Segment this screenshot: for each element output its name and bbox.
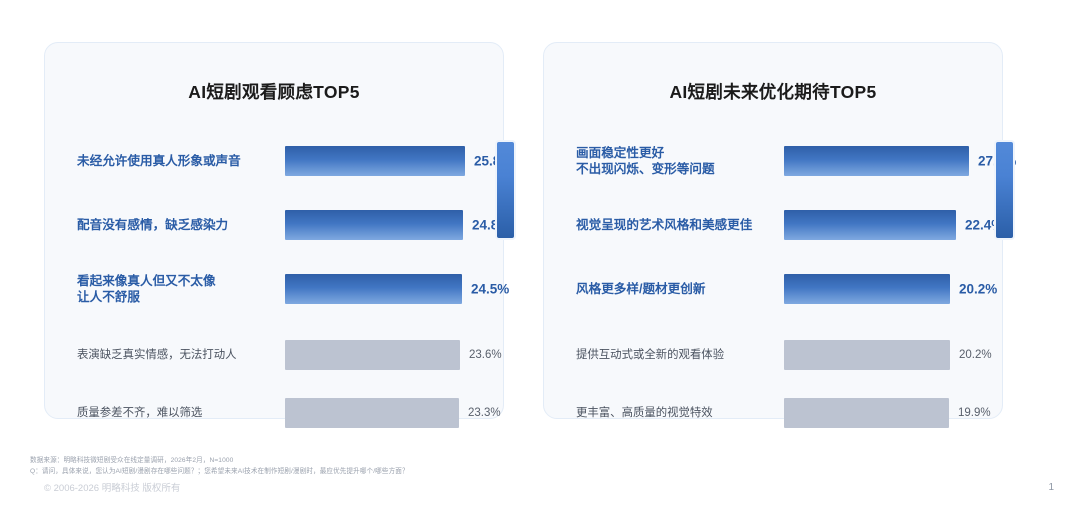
panel-title-right: AI短剧未来优化期待TOP5 bbox=[544, 79, 1002, 104]
bar-track: 24.5% bbox=[285, 274, 470, 304]
bar-list-left: 未经允许使用真人形象或声音 25.8% 配音没有感情，缺乏感染力 24.8% 看… bbox=[45, 125, 503, 404]
bar-value-label: 19.9% bbox=[958, 407, 991, 419]
bar-track: 19.9% bbox=[784, 398, 969, 428]
panel-viewing-concerns: AI短剧观看顾虑TOP5 未经允许使用真人形象或声音 25.8% 配音没有感情，… bbox=[44, 42, 504, 419]
bar-value-label: 23.6% bbox=[469, 349, 502, 361]
bar-row-label: 风格更多样/题材更创新 bbox=[576, 281, 780, 297]
bar-fill bbox=[285, 146, 465, 176]
bar-track: 27.6% bbox=[784, 146, 969, 176]
bar-value-label: 24.5% bbox=[471, 282, 509, 297]
bar-row[interactable]: 看起来像真人但又不太像 让人不舒服 24.5% bbox=[45, 271, 503, 307]
bar-row-label: 看起来像真人但又不太像 让人不舒服 bbox=[77, 273, 281, 305]
bar-row[interactable]: 更丰富、高质量的视觉特效 19.9% bbox=[544, 395, 1002, 431]
bar-row[interactable]: 表演缺乏真实情感，无法打动人 23.6% bbox=[45, 337, 503, 373]
footer-question-line: Q：请问，具体来说，您认为AI短剧/漫剧存在哪些问题？；您希望未来AI技术在制作… bbox=[30, 466, 930, 477]
bar-track: 20.2% bbox=[784, 274, 969, 304]
bar-value-label: 23.3% bbox=[468, 407, 501, 419]
bar-fill bbox=[784, 210, 956, 240]
bar-row-label: 提供互动式或全新的观看体验 bbox=[576, 347, 780, 363]
bar-value-label: 20.2% bbox=[959, 349, 992, 361]
page-number: 1 bbox=[1048, 482, 1054, 493]
bar-row-label: 表演缺乏真实情感，无法打动人 bbox=[77, 347, 281, 363]
footer-copyright: © 2006-2026 明略科技 版权所有 bbox=[44, 480, 930, 494]
bar-fill bbox=[784, 274, 950, 304]
panel-title-left: AI短剧观看顾虑TOP5 bbox=[45, 79, 503, 104]
bar-row[interactable]: 画面稳定性更好 不出现闪烁、变形等问题 27.6% bbox=[544, 143, 1002, 179]
bar-row-label: 未经允许使用真人形象或声音 bbox=[77, 153, 281, 169]
bar-fill bbox=[784, 340, 950, 370]
bar-track: 23.6% bbox=[285, 340, 470, 370]
bar-list-right: 画面稳定性更好 不出现闪烁、变形等问题 27.6% 视觉呈现的艺术风格和美感更佳… bbox=[544, 125, 1002, 404]
bar-track: 23.3% bbox=[285, 398, 470, 428]
bar-row-label: 画面稳定性更好 不出现闪烁、变形等问题 bbox=[576, 145, 780, 177]
footer-source-line: 数据来源：明略科技微短剧受众在线定量调研，2026年2月，N=1000 bbox=[30, 455, 930, 466]
bar-row[interactable]: 质量参差不齐，难以筛选 23.3% bbox=[45, 395, 503, 431]
panel-future-expectations: AI短剧未来优化期待TOP5 画面稳定性更好 不出现闪烁、变形等问题 27.6%… bbox=[543, 42, 1003, 419]
bar-track: 25.8% bbox=[285, 146, 470, 176]
bar-fill bbox=[285, 398, 459, 428]
bar-row-label: 质量参差不齐，难以筛选 bbox=[77, 405, 281, 421]
bar-fill bbox=[285, 340, 460, 370]
bar-fill bbox=[285, 274, 462, 304]
bar-fill bbox=[784, 398, 949, 428]
footer: 数据来源：明略科技微短剧受众在线定量调研，2026年2月，N=1000 Q：请问… bbox=[30, 455, 930, 494]
bar-row[interactable]: 配音没有感情，缺乏感染力 24.8% bbox=[45, 207, 503, 243]
bar-row-label: 配音没有感情，缺乏感染力 bbox=[77, 217, 281, 233]
bar-row[interactable]: 提供互动式或全新的观看体验 20.2% bbox=[544, 337, 1002, 373]
bar-row[interactable]: 视觉呈现的艺术风格和美感更佳 22.4% bbox=[544, 207, 1002, 243]
bar-track: 22.4% bbox=[784, 210, 969, 240]
bar-row[interactable]: 未经允许使用真人形象或声音 25.8% bbox=[45, 143, 503, 179]
bar-value-label: 20.2% bbox=[959, 282, 997, 297]
bar-row[interactable]: 风格更多样/题材更创新 20.2% bbox=[544, 271, 1002, 307]
slide-canvas: AI短剧观看顾虑TOP5 未经允许使用真人形象或声音 25.8% 配音没有感情，… bbox=[0, 0, 1080, 518]
bar-fill bbox=[285, 210, 463, 240]
bar-row-label: 视觉呈现的艺术风格和美感更佳 bbox=[576, 217, 780, 233]
panel-edge-accent-right bbox=[996, 142, 1013, 238]
bar-track: 24.8% bbox=[285, 210, 470, 240]
bar-track: 20.2% bbox=[784, 340, 969, 370]
panel-edge-accent-left bbox=[497, 142, 514, 238]
bar-row-label: 更丰富、高质量的视觉特效 bbox=[576, 405, 780, 421]
bar-fill bbox=[784, 146, 969, 176]
